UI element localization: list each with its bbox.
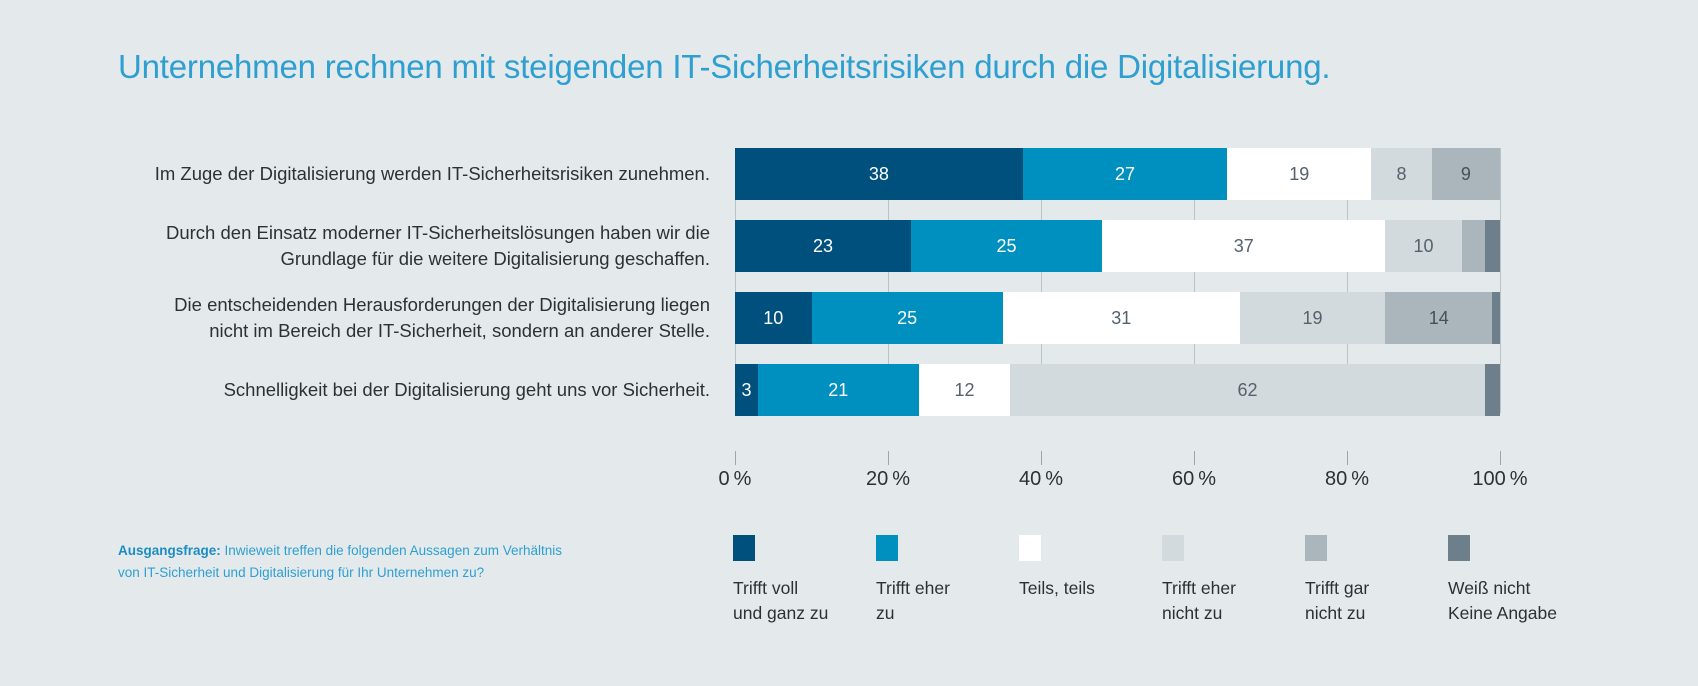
bar-row: 1025311914 [735, 292, 1500, 344]
bar-segment [1492, 292, 1500, 344]
bar-segment-value: 38 [869, 165, 889, 183]
category-label: Schnelligkeit bei der Digitalisierung ge… [110, 364, 710, 416]
bar-segment-value: 23 [813, 237, 833, 255]
bar-segment: 21 [758, 364, 919, 416]
bar-row: 23253710 [735, 220, 1500, 272]
bar-segment-value: 21 [828, 381, 848, 399]
bar-segment-value: 10 [763, 309, 783, 327]
legend-item: Weiß nichtKeine Angabe [1448, 535, 1598, 627]
bar-segment: 10 [1385, 220, 1462, 272]
axis-tick-label: 80 % [1325, 468, 1369, 491]
bar-segment: 19 [1227, 148, 1371, 200]
bar-segment: 14 [1385, 292, 1492, 344]
category-label-line: Schnelligkeit bei der Digitalisierung ge… [224, 377, 710, 403]
bar-segment [1485, 364, 1500, 416]
bar-segment-value: 3 [741, 381, 751, 399]
bar-segment: 23 [735, 220, 911, 272]
category-label-line: nicht im Bereich der IT-Sicherheit, sond… [174, 318, 710, 344]
bar-segment: 12 [919, 364, 1011, 416]
legend-label-line: Trifft gar [1305, 576, 1455, 601]
axis-tick-label: 40 % [1019, 468, 1063, 491]
legend-label-line: zu [876, 601, 1026, 626]
bar-segment: 8 [1371, 148, 1432, 200]
bar-segment-value: 9 [1461, 165, 1471, 183]
legend-item: Teils, teils [1019, 535, 1169, 627]
bar-segment: 25 [911, 220, 1102, 272]
bar-segment-value: 25 [897, 309, 917, 327]
category-label-line: Grundlage für die weitere Digitalisierun… [166, 246, 710, 272]
legend-swatch [1162, 535, 1184, 561]
bar-segment-value: 62 [1238, 381, 1258, 399]
plot-area: 382719892325371010253119143211262 [735, 148, 1500, 451]
axis-tick [1041, 451, 1042, 465]
source-question-lead: Ausgangsfrage: [118, 543, 221, 558]
category-label-line: Durch den Einsatz moderner IT-Sicherheit… [166, 220, 710, 246]
bar-segment-value: 14 [1429, 309, 1449, 327]
bar-segment-value: 37 [1234, 237, 1254, 255]
bar-segment: 31 [1003, 292, 1240, 344]
bar-segment-value: 12 [954, 381, 974, 399]
legend-label: Trifft garnicht zu [1305, 576, 1455, 627]
chart-legend: Trifft vollund ganz zuTrifft eherzuTeils… [733, 535, 1613, 645]
category-labels: Im Zuge der Digitalisierung werden IT-Si… [110, 148, 710, 436]
legend-item: Trifft ehernicht zu [1162, 535, 1312, 627]
legend-label-line: nicht zu [1162, 601, 1312, 626]
axis-tick [1347, 451, 1348, 465]
legend-item: Trifft eherzu [876, 535, 1026, 627]
bar-segment: 10 [735, 292, 812, 344]
bar-segment: 37 [1102, 220, 1385, 272]
axis-tick [735, 451, 736, 465]
bar-segment-value: 10 [1413, 237, 1433, 255]
bar-segment-value: 19 [1303, 309, 1323, 327]
bar-row: 38271989 [735, 148, 1500, 200]
legend-label: Teils, teils [1019, 576, 1169, 627]
legend-label-line: nicht zu [1305, 601, 1455, 626]
bar-segment-value: 19 [1289, 165, 1309, 183]
bar-segment: 27 [1023, 148, 1228, 200]
bar-segment: 38 [735, 148, 1023, 200]
bar-segment: 9 [1432, 148, 1500, 200]
legend-label: Trifft ehernicht zu [1162, 576, 1312, 627]
bar-segment [1485, 220, 1500, 272]
gridline [1500, 148, 1501, 413]
legend-label-line: Trifft voll [733, 576, 883, 601]
legend-item: Trifft vollund ganz zu [733, 535, 883, 627]
bar-segment-value: 25 [997, 237, 1017, 255]
axis-tick-label: 100 % [1472, 468, 1527, 491]
legend-swatch [733, 535, 755, 561]
bar-segment-value: 8 [1397, 165, 1407, 183]
legend-swatch [876, 535, 898, 561]
axis-tick-label: 60 % [1172, 468, 1216, 491]
category-label-line: Die entscheidenden Herausforderungen der… [174, 292, 710, 318]
legend-item: Trifft garnicht zu [1305, 535, 1455, 627]
legend-label-line: Teils, teils [1019, 576, 1169, 601]
legend-label-line: und ganz zu [733, 601, 883, 626]
bar-segment: 19 [1240, 292, 1385, 344]
axis-ticks [735, 451, 1500, 465]
legend-swatch [1448, 535, 1470, 561]
bar-segment: 62 [1010, 364, 1484, 416]
axis-tick [1194, 451, 1195, 465]
bar-row: 3211262 [735, 364, 1500, 416]
bar-segment: 25 [812, 292, 1003, 344]
category-label: Im Zuge der Digitalisierung werden IT-Si… [110, 148, 710, 200]
bar-segment-value: 31 [1111, 309, 1131, 327]
legend-label: Trifft eherzu [876, 576, 1026, 627]
source-question: Ausgangsfrage: Inwieweit treffen die fol… [118, 540, 568, 584]
category-label: Die entscheidenden Herausforderungen der… [110, 292, 710, 344]
legend-label-line [1019, 601, 1169, 626]
legend-label-line: Weiß nicht [1448, 576, 1598, 601]
legend-swatch [1305, 535, 1327, 561]
legend-label-line: Trifft eher [1162, 576, 1312, 601]
category-label-line: Im Zuge der Digitalisierung werden IT-Si… [155, 161, 710, 187]
legend-label-line: Trifft eher [876, 576, 1026, 601]
axis-tick [1500, 451, 1501, 465]
category-label: Durch den Einsatz moderner IT-Sicherheit… [110, 220, 710, 272]
bar-segment [1462, 220, 1485, 272]
axis-tick-label: 20 % [866, 468, 910, 491]
legend-swatch [1019, 535, 1041, 561]
bar-segment-value: 27 [1115, 165, 1135, 183]
chart-page: Unternehmen rechnen mit steigenden IT-Si… [0, 0, 1698, 686]
bar-rows: 382719892325371010253119143211262 [735, 148, 1500, 436]
axis-tick-labels: 0 %20 %40 %60 %80 %100 % [735, 468, 1500, 498]
axis-tick [888, 451, 889, 465]
legend-label: Weiß nichtKeine Angabe [1448, 576, 1598, 627]
axis-tick-label: 0 % [719, 468, 752, 491]
bar-segment: 3 [735, 364, 758, 416]
legend-label: Trifft vollund ganz zu [733, 576, 883, 627]
legend-label-line: Keine Angabe [1448, 601, 1598, 626]
